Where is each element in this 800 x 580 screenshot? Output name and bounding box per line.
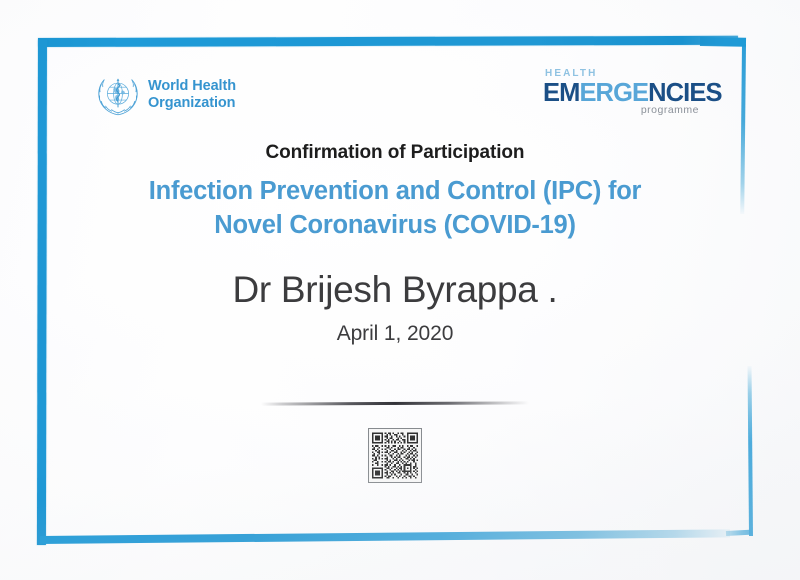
course-title-line-1: Infection Prevention and Control (IPC) f… [47,175,743,209]
qr-code [368,428,422,483]
certificate-border-corner-top-right [700,37,746,47]
participation-date: April 1, 2020 [47,322,743,346]
who-logo-text: World Health Organization [148,78,236,112]
emergencies-wordmark-part3: NCIES [648,79,721,107]
certificate-border-top [38,36,738,47]
course-title: Infection Prevention and Control (IPC) f… [47,175,743,242]
certificate-page: World Health Organization HEALTH EMERGEN… [0,0,800,580]
emergencies-wordmark-part2: ERGE [579,79,648,107]
participant-name: Dr Brijesh Byrappa . [47,269,743,311]
emergencies-health-label: HEALTH [545,69,701,79]
section-divider [261,401,529,405]
health-emergencies-logo: HEALTH EMERGENCIES programme [543,69,701,116]
certificate-header: World Health Organization HEALTH EMERGEN… [47,47,743,121]
qr-code-matrix [372,432,418,479]
confirmation-heading: Confirmation of Participation [47,142,743,164]
who-logo: World Health Organization [95,72,236,118]
certificate-border-right-lower [748,366,753,536]
certificate-content: World Health Organization HEALTH EMERGEN… [47,47,743,536]
course-title-line-2: Novel Coronavirus (COVID-19) [47,209,743,243]
emergencies-wordmark: EMERGENCIES [543,80,701,106]
certificate-border-left [37,40,47,545]
emergencies-wordmark-part1: EM [543,79,579,107]
who-emblem-icon [95,72,141,118]
